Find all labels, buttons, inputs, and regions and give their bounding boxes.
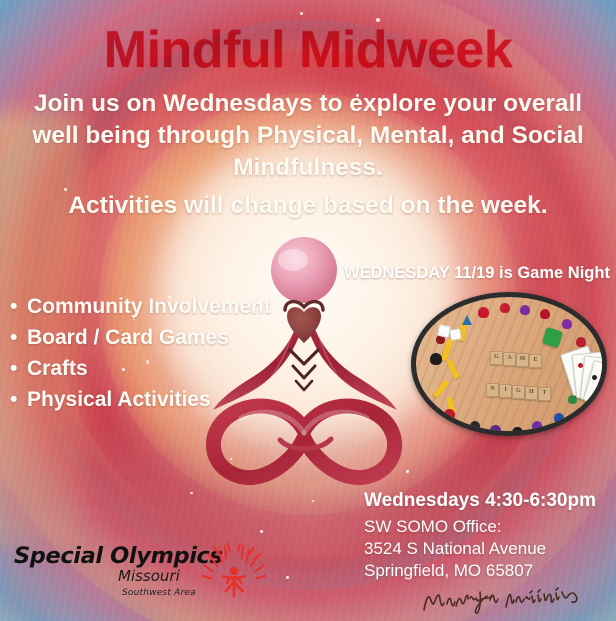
bullet-glyph: • [10,385,17,416]
event-street: 3524 S National Avenue [364,538,596,560]
artist-signature [420,582,600,618]
event-city-state-zip: Springfield, MO 65807 [364,560,596,582]
letter-tile: G [490,351,503,365]
special-olympics-logo: Special Olympics Missouri Southwest Area [14,543,264,605]
letter-tile: E [529,354,542,368]
game-piece [478,307,489,318]
card-pip [592,375,597,380]
game-piece [554,413,564,423]
game-piece [540,309,550,319]
letter-tile: H [525,386,538,400]
bullet-glyph: • [10,292,17,323]
game-piece [500,303,510,313]
list-item-label: Board / Card Games [27,326,229,349]
game-piece [490,425,501,436]
game-piece [430,353,442,365]
letter-tile: N [486,383,499,397]
paint-speck [312,500,314,502]
list-item: • Crafts [8,354,271,385]
poster-title: Mindful Midweek [0,20,616,80]
letter-tile: M [516,353,529,367]
event-time: Wednesdays 4:30-6:30pm [364,489,596,514]
game-piece [562,319,572,329]
poster-flyer: Mindful Midweek Join us on Wednesdays to… [0,0,616,621]
game-piece [444,409,455,420]
paint-speck [190,492,193,494]
letter-tile: I [499,384,512,398]
letter-tile: G [512,385,525,399]
dice [449,328,461,340]
logo-state-name: Missouri [118,567,180,585]
intro-paragraph: Join us on Wednesdays to explore your ov… [10,88,606,221]
letter-tile: T [538,387,551,401]
event-details: Wednesdays 4:30-6:30pm SW SOMO Office: 3… [364,489,596,582]
list-item-label: Crafts [27,357,88,380]
list-item: • Board / Card Games [8,323,271,354]
event-location-name: SW SOMO Office: [364,516,596,538]
paint-speck [260,530,263,533]
list-item: • Community Involvement [8,292,271,323]
intro-line-4: Activities will change based on the week… [10,190,606,222]
bullet-glyph: • [10,354,17,385]
intro-line-2: being through Physical, Mental, and Soci… [85,122,583,149]
paint-speck [286,576,289,579]
game-night-photo: G A M E N I G H T [411,292,607,436]
logo-org-name: Special Olympics [14,543,222,569]
game-piece [470,421,480,431]
game-piece [520,305,530,315]
game-piece [532,421,542,431]
bullet-glyph: • [10,323,17,354]
activities-list: • Community Involvement • Board / Card G… [8,292,271,415]
special-olympics-flame-icon [202,541,266,603]
list-item-label: Physical Activities [27,388,211,411]
game-piece [512,427,523,436]
intro-line-3: Mindfulness. [233,154,383,181]
logo-area-name: Southwest Area [122,588,196,598]
game-night-label: WEDNESDAY 11/19 is Game Night [344,264,610,283]
card-pip [578,363,583,368]
paint-speck [300,12,303,15]
letter-tile: A [503,352,516,366]
list-item: • Physical Activities [8,385,271,416]
list-item-label: Community Involvement [27,295,271,318]
